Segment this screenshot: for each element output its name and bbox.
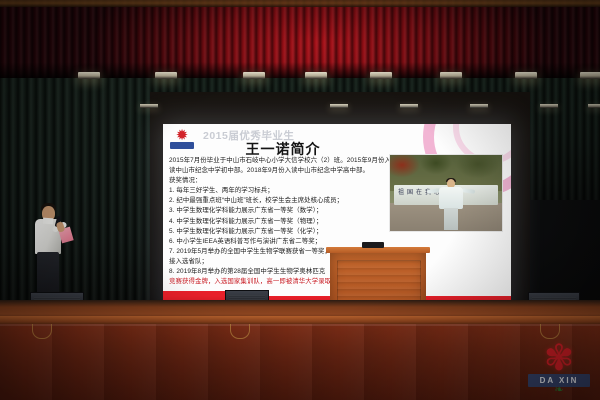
stage-apron [0, 324, 600, 400]
auditorium-stage-photo: ✹ 2015届优秀毕业生 王一诺简介 2015年7月份毕业于中山市石岐中心小学大… [0, 0, 600, 400]
stage-light [370, 72, 392, 79]
stage-light [440, 72, 462, 79]
slide-intro-line: 2015年7月份毕业于中山市石岐中心小学大信学校六（2）班。2015年9月份入 [169, 156, 421, 166]
stage-light [140, 104, 158, 108]
podium-microphone [362, 242, 384, 248]
photo-subject-legs [444, 208, 458, 230]
stage-cable [230, 324, 250, 339]
stage-light [515, 72, 537, 79]
slide-intro-line: 读中山市纪念中学初中部。2018年9月份入读中山市纪念中学高中部。 [169, 166, 421, 176]
stage-light [330, 104, 348, 108]
stage-curtain-valance [0, 0, 600, 78]
award-item: 4. 中学生数理化学科能力展示广东省一等奖（物理）； [169, 217, 421, 227]
podium-front-panel [337, 260, 421, 304]
stage-light [580, 72, 600, 79]
stage-light [540, 104, 558, 108]
photo-subject-shirt [439, 187, 463, 209]
stage-light [588, 104, 600, 108]
stage-light [305, 72, 327, 79]
graduate-photo: 祖国在我心中 [389, 154, 503, 232]
photo-subject-arm-right [462, 188, 475, 194]
award-item: 2. 纪中最强重点班“中山班”班长，校学生会主席处核心成员； [169, 196, 421, 206]
presenter-collar [43, 218, 53, 225]
award-item: 3. 中学生数理化学科能力展示广东省一等奖（数学）； [169, 206, 421, 216]
stage-cable [32, 324, 52, 339]
stage-light [470, 104, 488, 108]
photo-subject [438, 179, 464, 231]
stage-light-row-upper [0, 72, 600, 92]
presenter [28, 198, 72, 300]
daxin-watermark: ✾ DA XIN ❧ [524, 340, 594, 396]
stage-apron-highlight [0, 324, 600, 326]
awards-heading: 获奖情况： [169, 176, 421, 186]
stage-light [243, 72, 265, 79]
leaf-icon: ❧ [550, 385, 568, 395]
stage-light [155, 72, 177, 79]
award-item: 1. 每年三好学生、两年的学习标兵； [169, 186, 421, 196]
flower-icon: ✾ [536, 340, 582, 376]
stage-light [400, 104, 418, 108]
award-item: 5. 中学生数理化学科能力展示广东省一等奖（化学）； [169, 227, 421, 237]
stage-light-row-lower [0, 104, 600, 118]
stage-curtain-left [0, 60, 150, 320]
stage-light [78, 72, 100, 79]
